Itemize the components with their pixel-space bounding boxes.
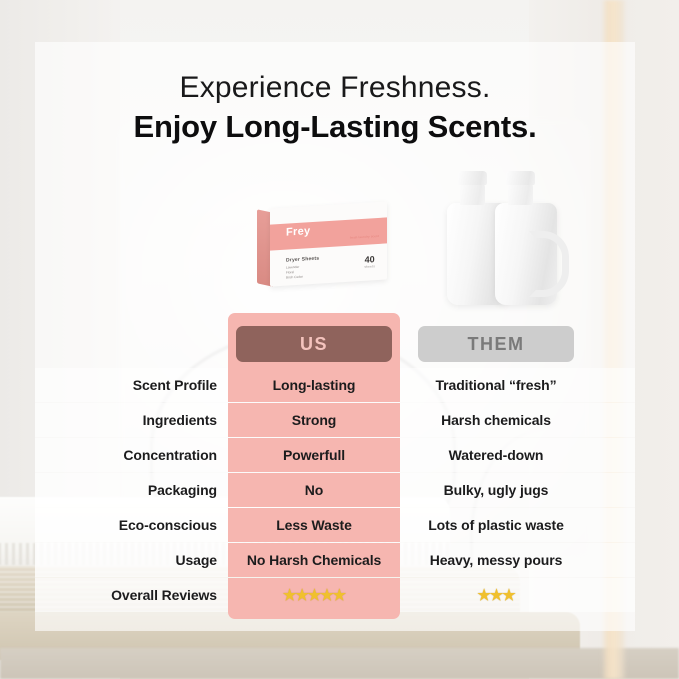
table-row: ConcentrationPowerfullWatered-down: [35, 438, 635, 472]
box-product-name: Dryer Sheets: [286, 256, 319, 264]
us-cell: Strong: [228, 403, 400, 437]
row-label: Ingredients: [35, 403, 217, 437]
competitor-detergent-jugs-image: [445, 175, 585, 305]
detergent-jug-front: [495, 203, 557, 305]
page-title: Experience Freshness. Enjoy Long-Lasting…: [35, 70, 635, 147]
star-icon: ★: [295, 588, 307, 603]
us-cell: No: [228, 473, 400, 507]
them-cell: Harsh chemicals: [410, 403, 582, 437]
row-label: Scent Profile: [35, 368, 217, 402]
row-label: Usage: [35, 543, 217, 577]
us-cell: Powerfull: [228, 438, 400, 472]
infographic-canvas: Experience Freshness. Enjoy Long-Lasting…: [0, 0, 679, 679]
headline-line-2: Enjoy Long-Lasting Scents.: [35, 108, 635, 147]
box-front-panel: Frey fresh laundry scent Dryer Sheets La…: [270, 201, 387, 286]
them-cell: Watered-down: [410, 438, 582, 472]
box-count-unit: sheets: [364, 264, 375, 269]
table-row: IngredientsStrongHarsh chemicals: [35, 403, 635, 437]
table-row: UsageNo Harsh ChemicalsHeavy, messy pour…: [35, 543, 635, 577]
comparison-table: US THEM Scent ProfileLong-lastingTraditi…: [35, 313, 635, 613]
them-cell: ★★★: [410, 578, 582, 612]
star-icon: ★: [502, 588, 514, 603]
us-cell: Less Waste: [228, 508, 400, 542]
headline-line-1: Experience Freshness.: [35, 70, 635, 106]
frey-dryer-sheets-box-image: Frey fresh laundry scent Dryer Sheets La…: [257, 205, 387, 285]
row-label: Concentration: [35, 438, 217, 472]
row-label: Overall Reviews: [35, 578, 217, 612]
jug-neck: [508, 183, 533, 205]
star-icon: ★: [308, 588, 320, 603]
them-cell: Lots of plastic waste: [410, 508, 582, 542]
box-sheet-count: 40 sheets: [364, 255, 375, 269]
jug-handle: [529, 231, 569, 297]
star-icon: ★: [333, 588, 345, 603]
jug-neck: [460, 183, 485, 205]
product-image-row: Frey fresh laundry scent Dryer Sheets La…: [35, 175, 635, 310]
them-header-pill: THEM: [418, 326, 574, 362]
them-cell: Heavy, messy pours: [410, 543, 582, 577]
star-icon: ★: [283, 588, 295, 603]
them-cell: Bulky, ugly jugs: [410, 473, 582, 507]
jug-cap: [458, 171, 487, 185]
box-description: Lavender Floral Birch Cedar: [286, 265, 303, 281]
us-cell: ★★★★★: [228, 578, 400, 612]
comparison-table-header: US THEM: [35, 313, 635, 368]
comparison-row-list: Scent ProfileLong-lastingTraditional “fr…: [35, 368, 635, 612]
them-star-rating: ★★★: [477, 588, 514, 603]
row-label: Eco-conscious: [35, 508, 217, 542]
table-row: PackagingNoBulky, ugly jugs: [35, 473, 635, 507]
frey-brand-logo: Frey: [286, 225, 310, 238]
table-row: Eco-consciousLess WasteLots of plastic w…: [35, 508, 635, 542]
us-cell: No Harsh Chemicals: [228, 543, 400, 577]
star-icon: ★: [477, 588, 489, 603]
jug-cap: [506, 171, 535, 185]
row-label: Packaging: [35, 473, 217, 507]
star-icon: ★: [320, 588, 332, 603]
table-row: Scent ProfileLong-lastingTraditional “fr…: [35, 368, 635, 402]
star-icon: ★: [490, 588, 502, 603]
us-star-rating: ★★★★★: [283, 588, 345, 603]
table-row: Overall Reviews★★★★★★★★: [35, 578, 635, 612]
us-cell: Long-lasting: [228, 368, 400, 402]
them-cell: Traditional “fresh”: [410, 368, 582, 402]
us-header-pill: US: [236, 326, 392, 362]
background-floor: [0, 648, 679, 679]
